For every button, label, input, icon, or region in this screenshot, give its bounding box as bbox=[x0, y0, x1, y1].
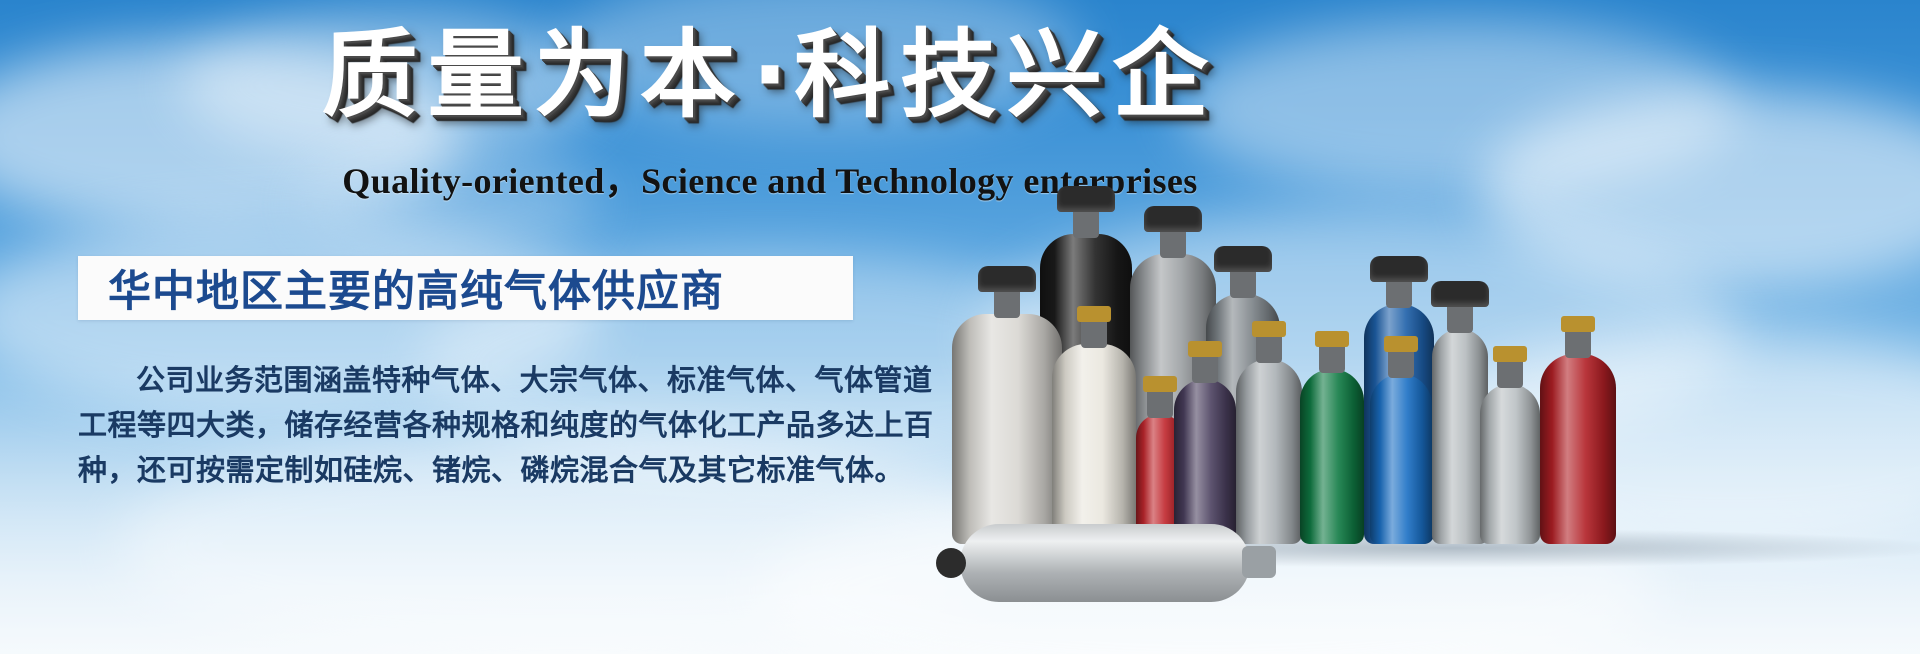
cylinder-valve bbox=[1493, 346, 1527, 362]
cylinder-neck bbox=[1319, 343, 1345, 373]
highlight-box: 华中地区主要的高纯气体供应商 bbox=[78, 256, 853, 320]
cylinder-neck bbox=[1256, 333, 1282, 363]
cylinder-silver-short bbox=[1480, 384, 1540, 544]
headline-separator: · bbox=[746, 19, 794, 131]
cylinder-neck bbox=[1230, 268, 1256, 298]
cylinder-cap bbox=[1144, 206, 1202, 232]
cylinder-neck bbox=[1147, 388, 1173, 418]
cylinder-valve bbox=[1252, 321, 1286, 337]
paragraph-line-2: 工程等四大类，储存经营各种规格和纯度的气体化工产品多达上百 bbox=[78, 403, 868, 448]
cylinder-valve-knob bbox=[936, 548, 966, 578]
cylinder-cream bbox=[1052, 344, 1136, 544]
paragraph-line-1: 公司业务范围涵盖特种气体、大宗气体、标准气体、气体管道 bbox=[78, 358, 868, 403]
cylinder-green bbox=[1300, 369, 1364, 544]
cylinder-valve bbox=[1315, 331, 1349, 347]
cylinder-neck bbox=[1160, 228, 1186, 258]
cylinder-blue-bright bbox=[1370, 374, 1432, 544]
cylinder-neck bbox=[1386, 278, 1412, 308]
cylinder-neck bbox=[1388, 348, 1414, 378]
cylinder-neck bbox=[994, 288, 1020, 318]
cylinder-neck bbox=[1565, 328, 1591, 358]
promotional-banner: 质量为本·科技兴企 Quality-oriented，Science and T… bbox=[0, 0, 1920, 654]
cylinder-white-large bbox=[952, 314, 1062, 544]
cylinder-neck bbox=[1081, 318, 1107, 348]
cylinder-cap bbox=[978, 266, 1036, 292]
paragraph-line-3: 种，还可按需定制如硅烷、锗烷、磷烷混合气及其它标准气体。 bbox=[78, 448, 868, 493]
highlight-box-text: 华中地区主要的高纯气体供应商 bbox=[78, 257, 724, 319]
cylinder-cap bbox=[1214, 246, 1272, 272]
cylinder-valve bbox=[1077, 306, 1111, 322]
cylinder-cap bbox=[1370, 256, 1428, 282]
cylinder-lying-grey bbox=[960, 524, 1250, 602]
cylinder-valve bbox=[1561, 316, 1595, 332]
cylinder-end-cap bbox=[1242, 546, 1276, 578]
cylinder-neck bbox=[1447, 303, 1473, 333]
cylinder-purple bbox=[1174, 379, 1236, 544]
cylinder-valve bbox=[1188, 341, 1222, 357]
headline-left: 质量为本 bbox=[322, 19, 746, 131]
cylinder-valve bbox=[1143, 376, 1177, 392]
cylinder-valve bbox=[1384, 336, 1418, 352]
cylinder-neck bbox=[1497, 358, 1523, 388]
cylinder-cap bbox=[1057, 186, 1115, 212]
gas-cylinder-group bbox=[940, 0, 1920, 654]
cylinder-neck bbox=[1192, 353, 1218, 383]
cylinder-neck bbox=[1073, 208, 1099, 238]
cylinder-red-large bbox=[1540, 354, 1616, 544]
description-paragraph: 公司业务范围涵盖特种气体、大宗气体、标准气体、气体管道 工程等四大类，储存经营各… bbox=[78, 358, 868, 493]
cylinder-silver-mid bbox=[1236, 359, 1302, 544]
cylinder-cap bbox=[1431, 281, 1489, 307]
